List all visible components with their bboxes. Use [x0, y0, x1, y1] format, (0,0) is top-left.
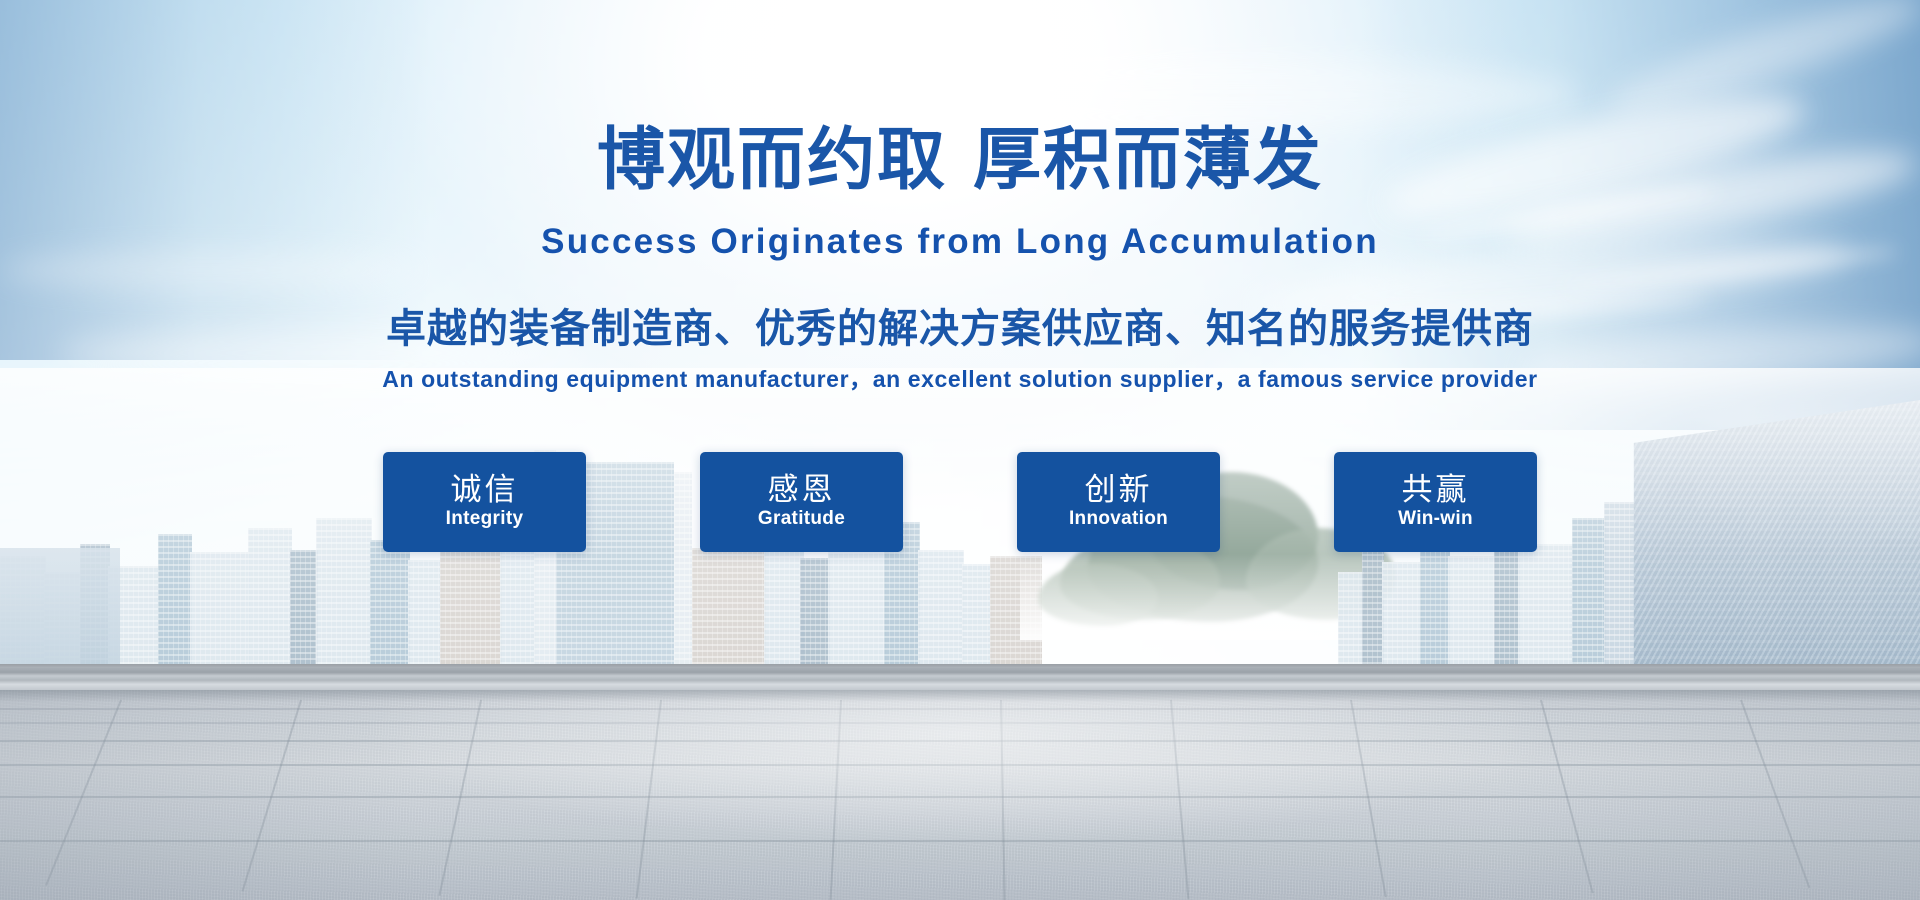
value-card-integrity-cn: 诚信 — [451, 473, 519, 506]
value-card-gratitude[interactable]: 感恩 Gratitude — [700, 452, 903, 552]
value-card-winwin-en: Win-win — [1398, 507, 1473, 531]
value-card-winwin[interactable]: 共赢 Win-win — [1334, 452, 1537, 552]
value-card-innovation-cn: 创新 — [1085, 473, 1153, 506]
hero-banner: 博观而约取厚积而薄发 Success Originates from Long … — [0, 0, 1920, 900]
subtitle-chinese: 卓越的装备制造商、优秀的解决方案供应商、知名的服务提供商 — [0, 309, 1920, 349]
value-cards: 诚信 Integrity 感恩 Gratitude 创新 Innovation … — [0, 452, 1920, 552]
value-card-gratitude-cn: 感恩 — [768, 473, 836, 506]
value-card-gratitude-en: Gratitude — [758, 507, 845, 531]
value-card-innovation-en: Innovation — [1069, 507, 1168, 531]
value-card-innovation[interactable]: 创新 Innovation — [1017, 452, 1220, 552]
headline-chinese-part2: 厚积而薄发 — [973, 122, 1323, 198]
banner-content: 博观而约取厚积而薄发 Success Originates from Long … — [0, 0, 1920, 900]
headline-chinese: 博观而约取厚积而薄发 — [0, 126, 1920, 194]
value-card-integrity-en: Integrity — [446, 507, 524, 531]
value-card-winwin-cn: 共赢 — [1402, 473, 1470, 506]
subtitle-english: An outstanding equipment manufacturer，an… — [0, 368, 1920, 391]
headline-chinese-part1: 博观而约取 — [597, 122, 947, 198]
value-card-integrity[interactable]: 诚信 Integrity — [383, 452, 586, 552]
headline-english: Success Originates from Long Accumulatio… — [0, 224, 1920, 259]
